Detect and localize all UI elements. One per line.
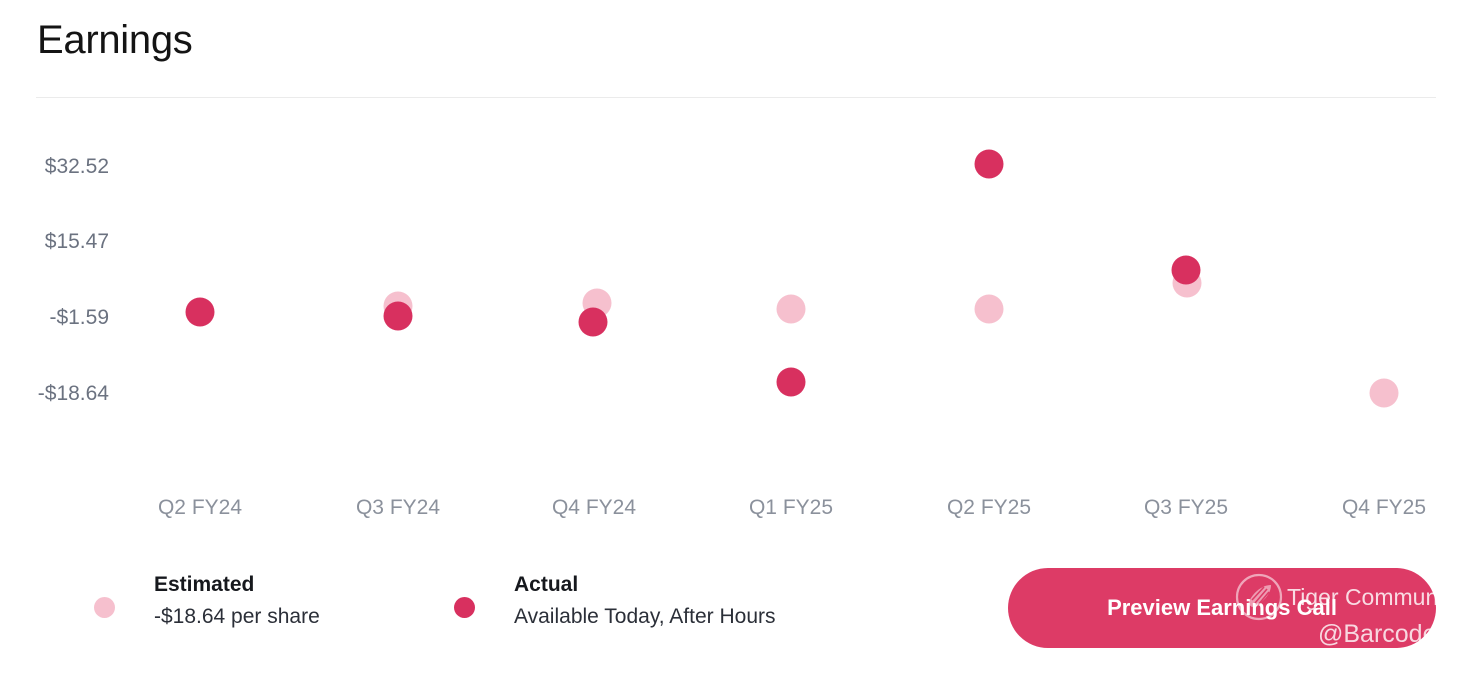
x-axis-label: Q2 FY25: [947, 495, 1031, 521]
legend-item-actual-text: Actual Available Today, After Hours: [514, 570, 776, 634]
legend-item-estimated-subtitle: -$18.64 per share: [154, 600, 320, 634]
x-axis-label: Q2 FY24: [158, 495, 242, 521]
preview-earnings-call-button[interactable]: Preview Earnings Call: [1008, 568, 1436, 648]
data-point-actual[interactable]: [975, 150, 1004, 179]
legend-item-actual-subtitle: Available Today, After Hours: [514, 600, 776, 634]
x-axis-label: Q4 FY24: [552, 495, 636, 521]
preview-earnings-call-label: Preview Earnings Call: [1008, 568, 1436, 648]
data-point-estimated[interactable]: [777, 295, 806, 324]
data-point-actual[interactable]: [579, 308, 608, 337]
data-point-actual[interactable]: [1172, 256, 1201, 285]
x-axis-label: Q3 FY24: [356, 495, 440, 521]
legend-item-estimated-title: Estimated: [154, 570, 320, 600]
legend-item-actual-title: Actual: [514, 570, 776, 600]
estimated-dot-icon: [94, 597, 115, 618]
x-axis: Q2 FY24Q3 FY24Q4 FY24Q1 FY25Q2 FY25Q3 FY…: [0, 495, 1472, 523]
page-title: Earnings: [37, 14, 192, 66]
x-axis-label: Q4 FY25: [1342, 495, 1426, 521]
chart-legend: Estimated -$18.64 per share Actual Avail…: [0, 570, 1000, 650]
x-axis-label: Q1 FY25: [749, 495, 833, 521]
legend-item-estimated-text: Estimated -$18.64 per share: [154, 570, 320, 634]
data-point-actual[interactable]: [186, 298, 215, 327]
data-point-actual[interactable]: [384, 302, 413, 331]
header-divider: [36, 97, 1436, 98]
x-axis-label: Q3 FY25: [1144, 495, 1228, 521]
data-point-estimated[interactable]: [1370, 379, 1399, 408]
earnings-scatter-chart: $32.52$15.47-$1.59-$18.64: [0, 120, 1472, 430]
actual-dot-icon: [454, 597, 475, 618]
data-point-estimated[interactable]: [975, 295, 1004, 324]
data-point-actual[interactable]: [777, 368, 806, 397]
chart-plot-area: [0, 120, 1472, 430]
earnings-card: Earnings $32.52$15.47-$1.59-$18.64 Q2 FY…: [0, 0, 1472, 678]
